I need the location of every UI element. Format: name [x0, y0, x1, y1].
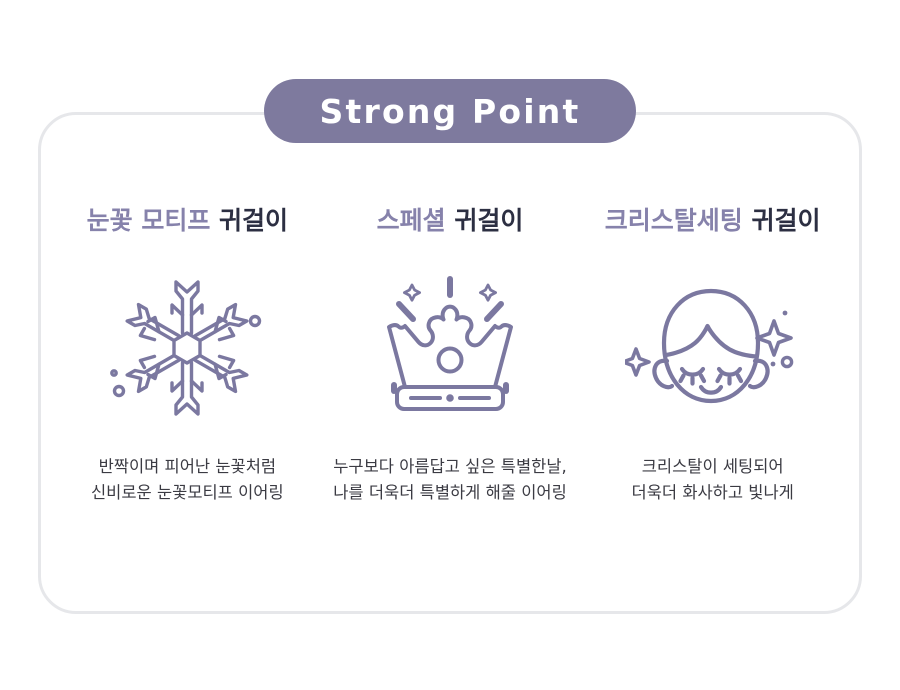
feature-column-face: 크리스탈세팅 귀걸이	[581, 112, 844, 507]
description-line-2: 더욱더 화사하고 빛나게	[632, 480, 794, 507]
crown-icon	[365, 261, 535, 436]
heading-dark-text: 귀걸이	[752, 206, 821, 235]
description-line-2: 신비로운 눈꽃모티프 이어링	[91, 480, 284, 507]
banner-title: Strong Point	[320, 95, 581, 128]
feature-heading: 스페셜 귀걸이	[377, 207, 524, 235]
feature-columns: 눈꽃 모티프 귀걸이	[38, 112, 862, 614]
feature-column-snowflake: 눈꽃 모티프 귀걸이	[56, 112, 319, 507]
feature-heading: 크리스탈세팅 귀걸이	[605, 207, 821, 235]
heading-dark-text: 귀걸이	[454, 206, 523, 235]
description-line-1: 크리스탈이 세팅되어	[632, 454, 794, 481]
feature-description: 반짝이며 피어난 눈꽃처럼 신비로운 눈꽃모티프 이어링	[91, 454, 284, 507]
feature-description: 누구보다 아름답고 싶은 특별한날, 나를 더욱더 특별하게 해줄 이어링	[333, 454, 567, 507]
snowflake-icon	[102, 261, 272, 436]
face-sparkle-icon	[625, 261, 800, 436]
feature-description: 크리스탈이 세팅되어 더욱더 화사하고 빛나게	[632, 454, 794, 507]
heading-accent-text: 눈꽃 모티프	[87, 206, 211, 235]
strong-point-banner: Strong Point	[264, 79, 636, 143]
description-line-1: 누구보다 아름답고 싶은 특별한날,	[333, 454, 567, 481]
heading-accent-text: 크리스탈세팅	[605, 206, 743, 235]
heading-accent-text: 스페셜	[377, 206, 446, 235]
feature-column-crown: 스페셜 귀걸이	[319, 112, 582, 507]
heading-dark-text: 귀걸이	[219, 206, 288, 235]
description-line-2: 나를 더욱더 특별하게 해줄 이어링	[333, 480, 567, 507]
promo-page: Strong Point 눈꽃 모티프 귀걸이	[0, 0, 900, 690]
feature-heading: 눈꽃 모티프 귀걸이	[87, 207, 288, 235]
description-line-1: 반짝이며 피어난 눈꽃처럼	[91, 454, 284, 481]
